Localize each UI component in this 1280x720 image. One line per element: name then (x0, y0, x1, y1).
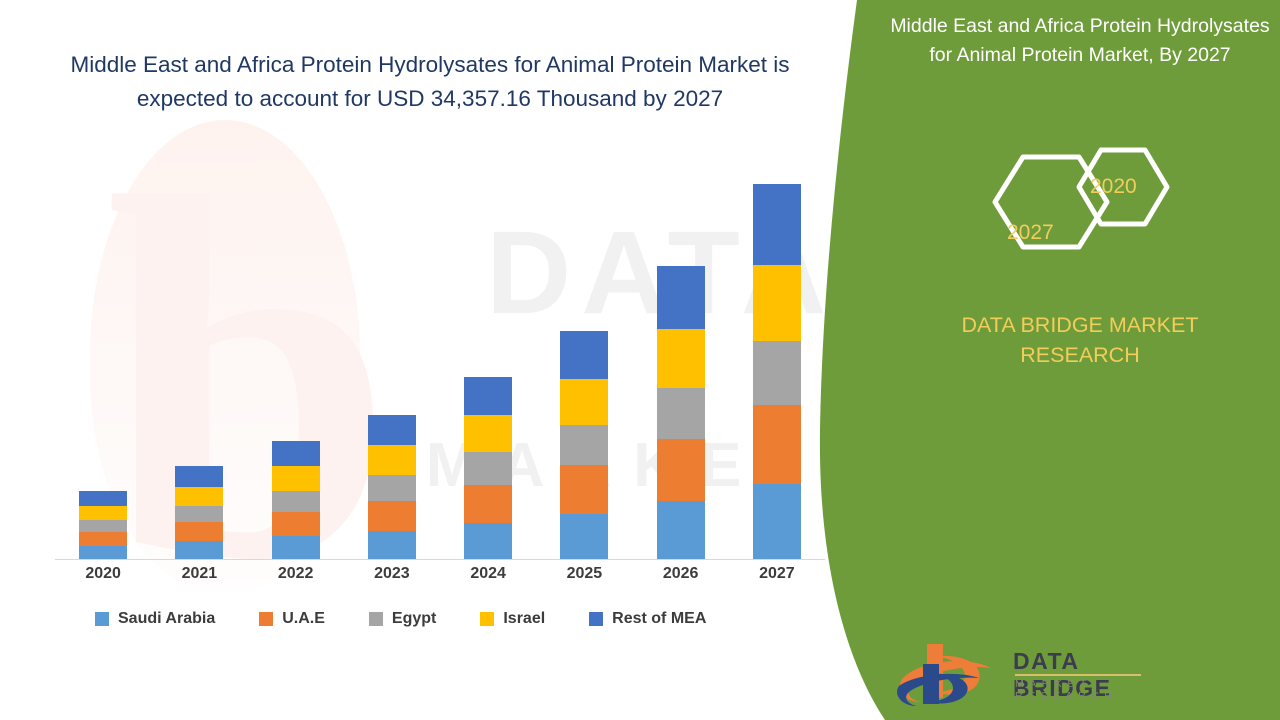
bar-segment[interactable] (560, 331, 608, 379)
bar-2027[interactable] (753, 184, 801, 559)
legend-item-egypt[interactable]: Egypt (369, 610, 436, 628)
bar-segment[interactable] (560, 379, 608, 425)
bar-segment[interactable] (753, 484, 801, 559)
bar-segment[interactable] (657, 439, 705, 500)
x-axis-label-2023: 2023 (344, 565, 440, 583)
bar-segment[interactable] (175, 522, 223, 541)
chart-title: Middle East and Africa Protein Hydrolysa… (60, 48, 800, 116)
bar-segment[interactable] (79, 546, 127, 559)
bar-2024[interactable] (464, 377, 512, 559)
x-axis-label-2022: 2022 (248, 565, 344, 583)
logo-divider (1015, 674, 1141, 676)
bar-segment[interactable] (464, 485, 512, 523)
bar-segment[interactable] (272, 536, 320, 559)
bar-segment[interactable] (560, 425, 608, 465)
x-axis-line (55, 559, 825, 560)
data-bridge-logo: DATA BRIDGE MARKET RESEARCH (895, 640, 1125, 712)
bar-segment[interactable] (368, 445, 416, 474)
hexagon-2027-label: 2027 (1007, 221, 1054, 245)
legend-swatch-icon (259, 612, 273, 626)
legend-label: Rest of MEA (612, 610, 706, 628)
legend-swatch-icon (480, 612, 494, 626)
legend-swatch-icon (95, 612, 109, 626)
bar-segment[interactable] (560, 514, 608, 559)
logo-tagline: MARKET RESEARCH (1015, 678, 1125, 702)
bar-segment[interactable] (657, 388, 705, 439)
bar-2025[interactable] (560, 331, 608, 559)
bar-segment[interactable] (657, 501, 705, 559)
bar-segment[interactable] (79, 532, 127, 546)
bar-segment[interactable] (79, 506, 127, 520)
bar-segment[interactable] (175, 541, 223, 559)
bar-2021[interactable] (175, 466, 223, 559)
chart-legend: Saudi ArabiaU.A.EEgyptIsraelRest of MEA (95, 610, 750, 628)
bar-segment[interactable] (79, 520, 127, 532)
bar-segment[interactable] (464, 415, 512, 452)
bar-segment[interactable] (464, 377, 512, 415)
bar-segment[interactable] (175, 506, 223, 522)
legend-label: Egypt (392, 610, 436, 628)
bar-segment[interactable] (657, 329, 705, 388)
x-axis-label-2021: 2021 (151, 565, 247, 583)
legend-item-rest-of-mea[interactable]: Rest of MEA (589, 610, 706, 628)
legend-item-israel[interactable]: Israel (480, 610, 545, 628)
bar-segment[interactable] (368, 475, 416, 501)
bar-segment[interactable] (464, 452, 512, 484)
bar-segment[interactable] (753, 265, 801, 340)
x-axis-labels: 20202021202220232024202520262027 (55, 565, 825, 593)
bar-2022[interactable] (272, 441, 320, 559)
bar-segment[interactable] (272, 441, 320, 466)
legend-swatch-icon (369, 612, 383, 626)
legend-swatch-icon (589, 612, 603, 626)
bar-segment[interactable] (368, 501, 416, 531)
panel-title: Middle East and Africa Protein Hydrolysa… (890, 12, 1270, 70)
hexagon-group: 2020 2027 (975, 145, 1185, 260)
legend-item-saudi-arabia[interactable]: Saudi Arabia (95, 610, 215, 628)
bar-2026[interactable] (657, 266, 705, 559)
bar-2023[interactable] (368, 415, 416, 559)
bar-segment[interactable] (657, 266, 705, 328)
chart-panel: Middle East and Africa Protein Hydrolysa… (0, 0, 870, 720)
brand-line-2: RESEARCH (900, 340, 1260, 370)
bar-segment[interactable] (175, 466, 223, 486)
bar-segment[interactable] (753, 405, 801, 483)
brand-line-1: DATA BRIDGE MARKET (900, 310, 1260, 340)
bar-segment[interactable] (753, 184, 801, 265)
legend-label: Israel (503, 610, 545, 628)
x-axis-label-2020: 2020 (55, 565, 151, 583)
bar-segment[interactable] (79, 491, 127, 506)
x-axis-label-2025: 2025 (536, 565, 632, 583)
logo-mark-icon (895, 640, 1007, 708)
bar-segment[interactable] (560, 465, 608, 513)
bar-segment[interactable] (464, 523, 512, 559)
bar-segment[interactable] (175, 487, 223, 506)
bar-2020[interactable] (79, 491, 127, 559)
bar-segment[interactable] (272, 491, 320, 512)
bar-segment[interactable] (272, 512, 320, 536)
legend-label: U.A.E (282, 610, 325, 628)
x-axis-label-2024: 2024 (440, 565, 536, 583)
x-axis-label-2026: 2026 (633, 565, 729, 583)
green-panel-content: Middle East and Africa Protein Hydrolysa… (880, 0, 1280, 720)
hexagon-2020-label: 2020 (1090, 175, 1137, 199)
bar-segment[interactable] (368, 415, 416, 445)
x-axis-label-2027: 2027 (729, 565, 825, 583)
brand-name: DATA BRIDGE MARKET RESEARCH (900, 310, 1260, 370)
legend-label: Saudi Arabia (118, 610, 215, 628)
bar-segment[interactable] (753, 341, 801, 405)
bar-segment[interactable] (368, 531, 416, 559)
bar-segment[interactable] (272, 466, 320, 490)
plot-area (55, 170, 825, 560)
legend-item-u-a-e[interactable]: U.A.E (259, 610, 325, 628)
